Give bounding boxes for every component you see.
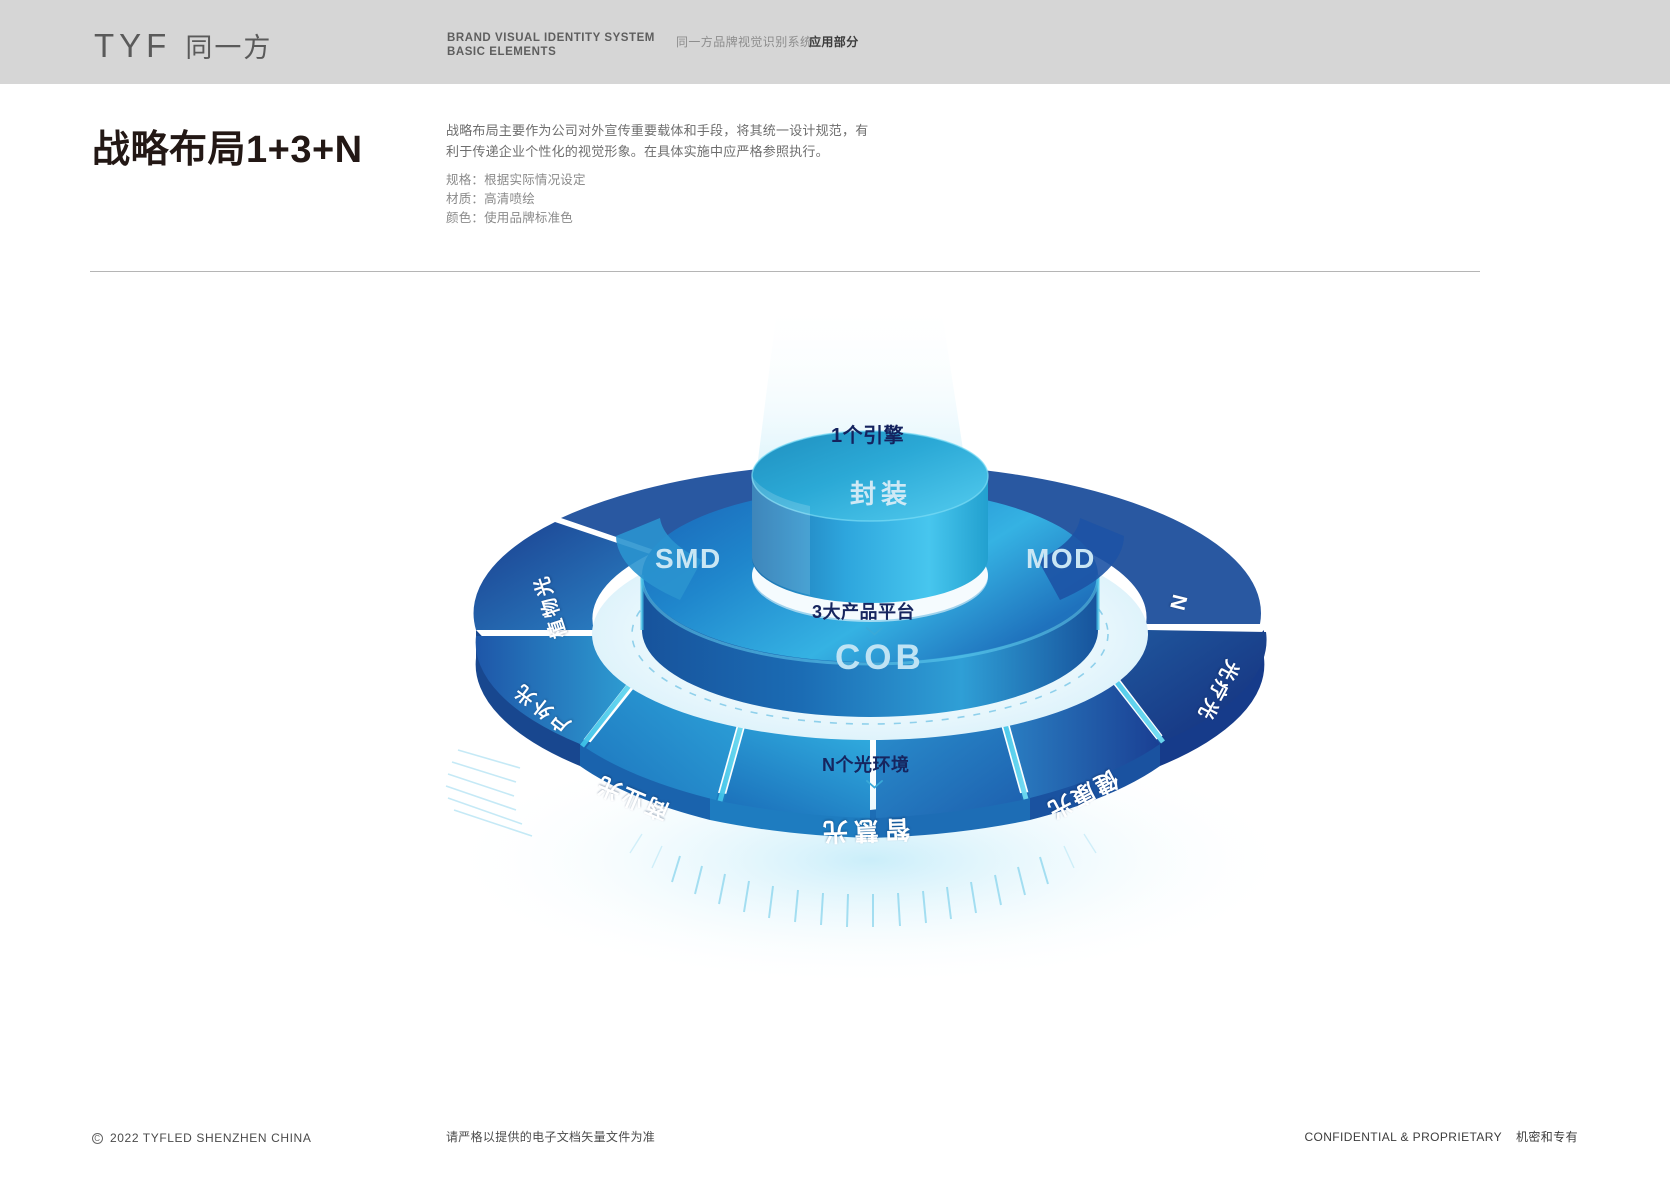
footer-copyright: C 2022 TYFLED SHENZHEN CHINA [92, 1131, 311, 1145]
header-section-name: 应用部分 [809, 33, 859, 50]
page-root: TYF 同一方 BRAND VISUAL IDENTITY SYSTEM BAS… [0, 0, 1670, 1181]
spec-list: 规格：根据实际情况设定 材质：高清喷绘 颜色：使用品牌标准色 [446, 171, 586, 228]
header-divider [90, 271, 1480, 272]
copyright-icon: C [92, 1133, 103, 1144]
page-header: TYF 同一方 BRAND VISUAL IDENTITY SYSTEM BAS… [0, 0, 1670, 84]
logo-latin-text: TYF [94, 27, 171, 65]
footer-confidential: CONFIDENTIAL & PROPRIETARY 机密和专有 [1304, 1128, 1578, 1145]
page-description: 战略布局主要作为公司对外宣传重要载体和手段，将其统一设计规范，有利于传递企业个性… [446, 120, 876, 162]
page-title: 战略布局1+3+N [92, 118, 363, 173]
header-en-line2: BASIC ELEMENTS [447, 45, 655, 59]
footer-note: 请严格以提供的电子文档矢量文件为准 [446, 1128, 655, 1145]
diagram-graphic [380, 300, 1360, 980]
spec-material: 材质：高清喷绘 [446, 190, 586, 209]
logo-chinese-text: 同一方 [185, 26, 272, 65]
spec-size: 规格：根据实际情况设定 [446, 171, 586, 190]
footer-confidential-en: CONFIDENTIAL & PROPRIETARY [1304, 1130, 1502, 1144]
header-en-line1: BRAND VISUAL IDENTITY SYSTEM [447, 31, 655, 45]
header-english-subtitle: BRAND VISUAL IDENTITY SYSTEM BASIC ELEME… [447, 31, 655, 59]
spec-color: 颜色：使用品牌标准色 [446, 209, 586, 228]
brand-logo: TYF 同一方 [94, 26, 272, 65]
header-system-name: 同一方品牌视觉识别系统 [676, 33, 812, 50]
engine-cylinder [752, 431, 988, 603]
strategy-diagram: 1个引擎 封装 SMD MOD 3大产品平台 COB N个光环境 植物光 户外光… [380, 300, 1360, 980]
footer-copyright-text: 2022 TYFLED SHENZHEN CHINA [110, 1131, 311, 1145]
footer-confidential-cn: 机密和专有 [1516, 1128, 1578, 1145]
